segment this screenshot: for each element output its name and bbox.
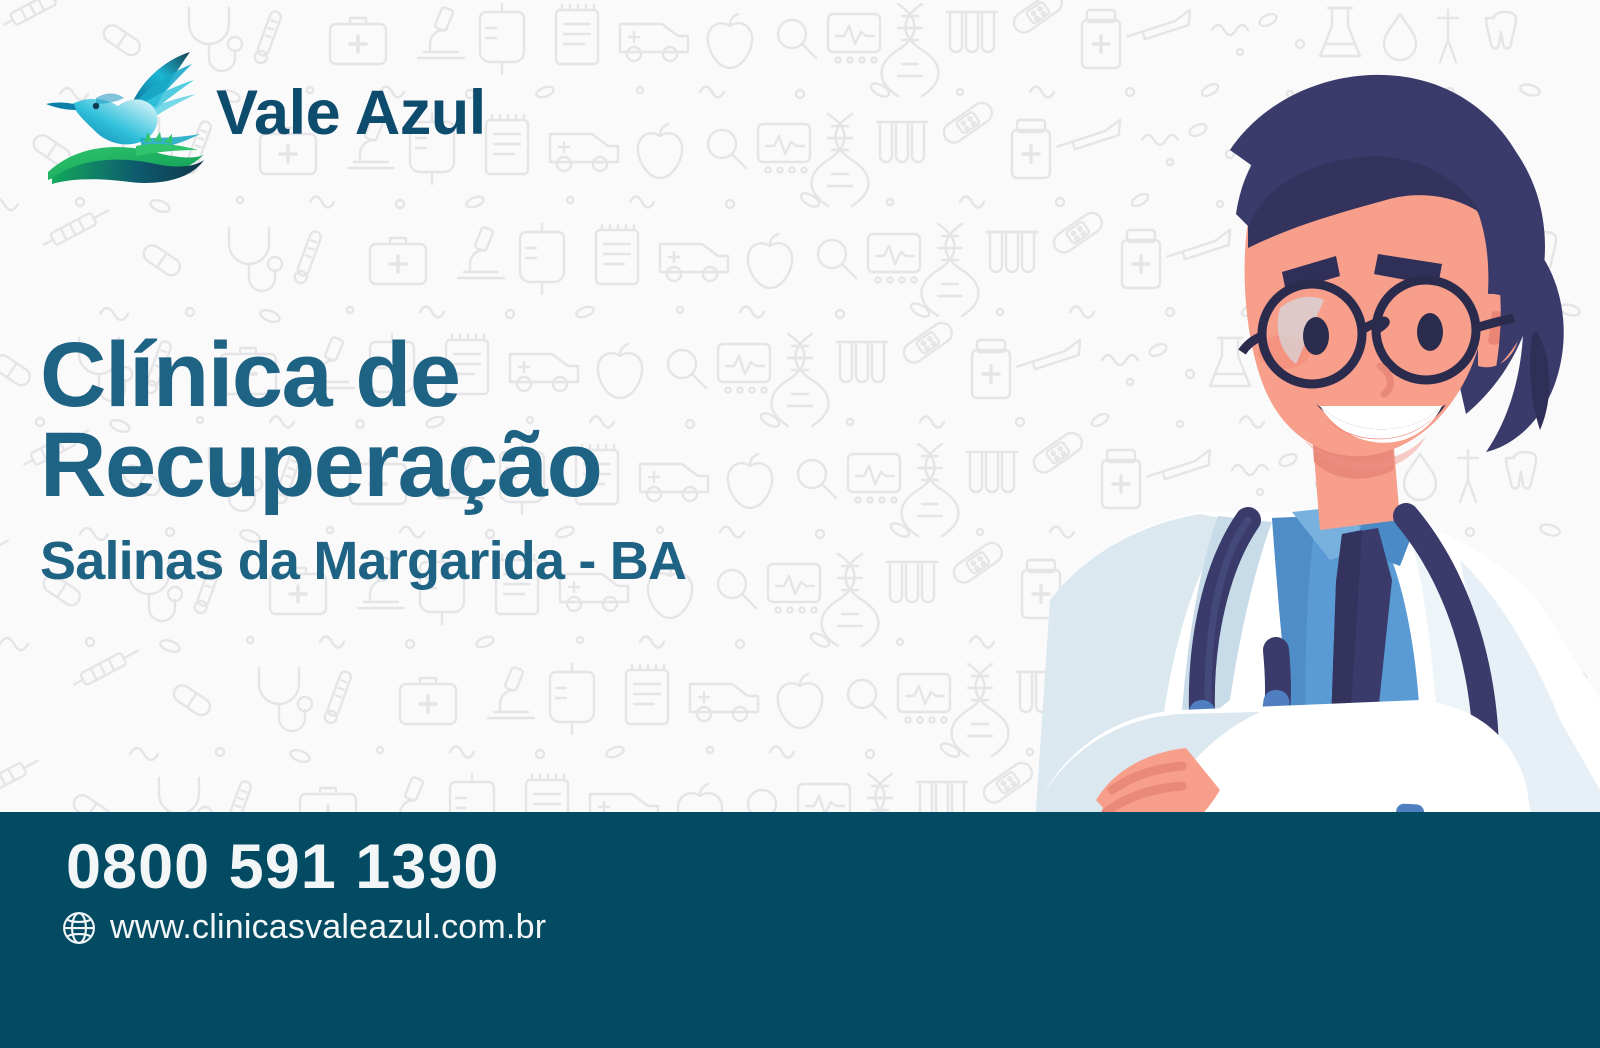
headline-subtitle: Salinas da Margarida - BA [40, 530, 900, 592]
headline-line-2: Recuperação [40, 420, 900, 510]
clinic-banner: Vale Azul Clínica de Recuperação Salinas… [0, 0, 1600, 1048]
headline-block: Clínica de Recuperação Salinas da Margar… [40, 330, 900, 592]
contact-footer: 0800 591 1390 www.clinicasvaleazul.com.b… [0, 812, 1600, 1048]
phone-number[interactable]: 0800 591 1390 [66, 836, 499, 899]
hummingbird-icon [44, 46, 204, 186]
brand-logo[interactable]: Vale Azul [44, 46, 524, 186]
website-row[interactable]: www.clinicasvaleazul.com.br [62, 908, 546, 947]
brand-wordmark: Vale Azul [216, 82, 486, 145]
website-url[interactable]: www.clinicasvaleazul.com.br [110, 908, 546, 947]
globe-icon [62, 911, 96, 945]
headline-line-1: Clínica de [40, 330, 900, 420]
